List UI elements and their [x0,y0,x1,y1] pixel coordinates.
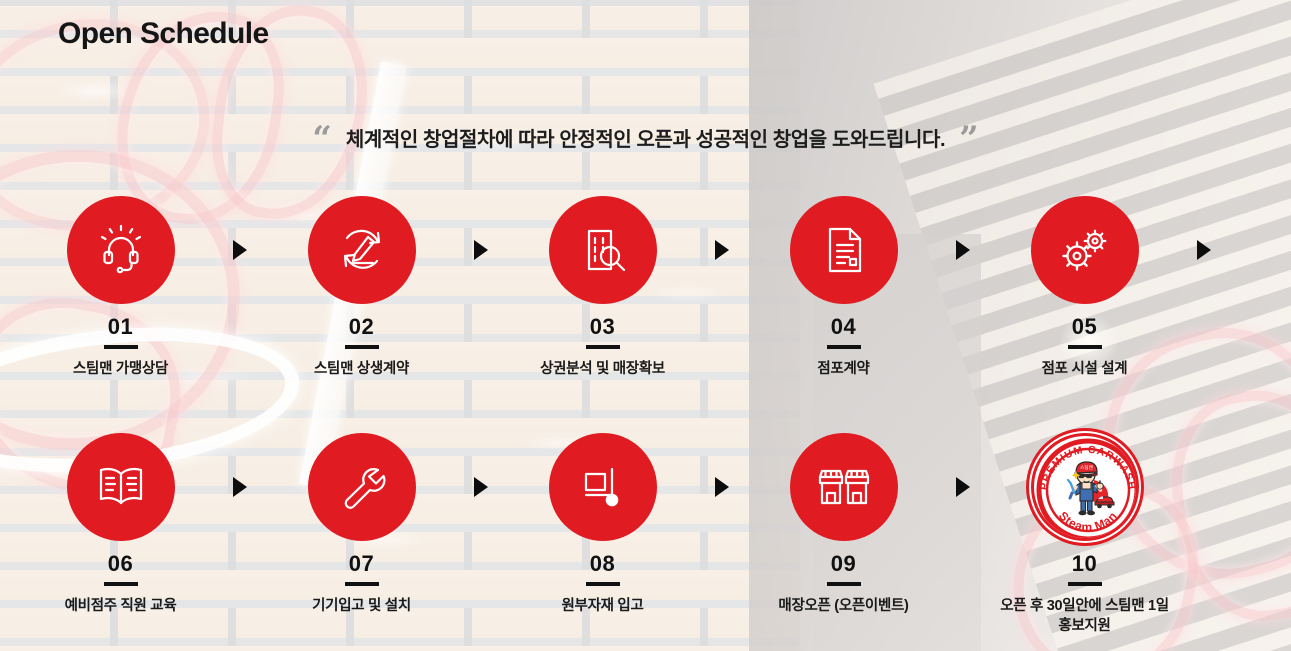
schedule-step-09[interactable]: 09매장오픈 (오픈이벤트) [723,433,964,617]
step-number-underline [827,582,861,586]
step-icon-circle [1031,196,1139,304]
steam-man-logo-badge: PREMIUM CARWASH Steam Man 스팀맨 [1031,433,1139,541]
schedule-row-2: 06예비점주 직원 교육 07기기입고 및 설치 08원부자재 입고 [0,433,1291,636]
schedule-step-04[interactable]: 04점포계약 [723,196,964,380]
step-label: 오픈 후 30일안에 스팀맨 1일 홍보지원 [970,597,1200,636]
building-search-icon [576,223,630,277]
schedule-step-05[interactable]: 05점포 시설 설계 [964,196,1205,380]
step-number: 01 [108,314,133,340]
schedule-step-03[interactable]: 03상권분석 및 매장확보 [482,196,723,380]
page-title: Open Schedule [58,17,269,51]
step-number-underline [345,345,379,349]
step-number-underline [1068,345,1102,349]
step-label: 원부자재 입고 [488,597,718,617]
schedule-step-08[interactable]: 08원부자재 입고 [482,433,723,617]
step-number: 08 [590,551,615,577]
schedule-step-06[interactable]: 06예비점주 직원 교육 [0,433,241,617]
step-label: 점포 시설 설계 [970,360,1200,380]
step-label: 기기입고 및 설치 [247,597,477,617]
step-number-underline [104,345,138,349]
step-number: 04 [831,314,856,340]
step-number: 07 [349,551,374,577]
svg-text:스팀맨: 스팀맨 [1080,464,1093,470]
step-number-underline [586,582,620,586]
step-number: 05 [1072,314,1097,340]
schedule-row-1: 01스팀맨 가맹상담 02스팀맨 상생계약 03상권분석 및 [0,196,1291,380]
step-arrow-icon [1197,240,1211,260]
headset-icon [93,222,149,278]
step-number: 03 [590,314,615,340]
step-number-underline [827,345,861,349]
step-number: 02 [349,314,374,340]
step-icon-circle [308,433,416,541]
step-number-underline [104,582,138,586]
quote-open-icon: “ [312,122,332,156]
step-label: 예비점주 직원 교육 [6,597,236,617]
document-icon [818,223,870,277]
step-icon-circle [549,433,657,541]
step-label: 스팀맨 가맹상담 [6,360,236,380]
step-label: 매장오픈 (오픈이벤트) [729,597,959,617]
schedule-step-01[interactable]: 01스팀맨 가맹상담 [0,196,241,380]
step-number: 09 [831,551,856,577]
quote-close-icon: ” [959,122,979,156]
step-label: 스팀맨 상생계약 [247,360,477,380]
gears-icon [1057,224,1113,276]
step-number-underline [586,345,620,349]
step-icon-circle [549,196,657,304]
contract-pen-icon [333,221,391,279]
wrench-icon [334,461,390,513]
quote-text: 체계적인 창업절차에 따라 안정적인 오픈과 성공적인 창업을 도와드립니다. [346,123,945,152]
schedule-step-10[interactable]: PREMIUM CARWASH Steam Man 스팀맨 [964,433,1205,636]
step-number-underline [345,582,379,586]
step-icon-circle [790,196,898,304]
hand-truck-icon [578,461,628,513]
step-number: 06 [108,551,133,577]
step-number-underline [1068,582,1102,586]
step-icon-circle [67,433,175,541]
open-book-icon [92,462,150,512]
step-label: 점포계약 [729,360,959,380]
step-icon-circle [790,433,898,541]
storefront-icon [815,464,873,510]
step-number: 10 [1072,551,1097,577]
step-icon-circle [308,196,416,304]
step-icon-circle [67,196,175,304]
step-label: 상권분석 및 매장확보 [488,360,718,380]
schedule-step-02[interactable]: 02스팀맨 상생계약 [241,196,482,380]
schedule-step-07[interactable]: 07기기입고 및 설치 [241,433,482,617]
quote-banner: “ 체계적인 창업절차에 따라 안정적인 오픈과 성공적인 창업을 도와드립니다… [0,120,1291,154]
